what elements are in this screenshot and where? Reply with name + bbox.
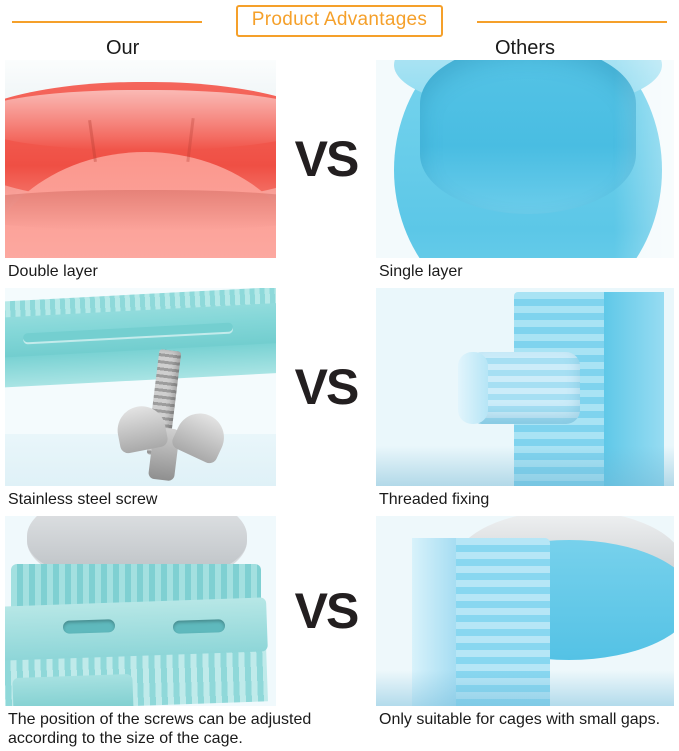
row-2-ours-image (5, 288, 276, 486)
header-banner: Product Advantages (0, 6, 679, 36)
column-header-ours: Our (106, 36, 139, 60)
row-3-others-image (376, 516, 674, 706)
comparison-rows: VS Double layer Single layer (0, 60, 679, 751)
header-rule-right (477, 21, 667, 23)
column-header-others: Others (495, 36, 555, 60)
comparison-row-2: VS Stainless steel screw Threaded fixing (0, 288, 679, 516)
row-1-others-image (376, 60, 674, 258)
comparison-row-3: VS The position of the screws can be adj… (0, 516, 679, 751)
header-title-box: Product Advantages (236, 5, 443, 37)
row-3-others-caption: Only suitable for cages with small gaps. (379, 710, 674, 729)
row-1-others-caption: Single layer (379, 262, 674, 281)
page-title: Product Advantages (252, 9, 427, 31)
row-3-ours-caption: The position of the screws can be adjust… (8, 710, 360, 748)
product-advantages-infographic: Product Advantages Our Others (0, 0, 679, 741)
row-3-ours-image (5, 516, 276, 706)
vs-label-row-1: VS (295, 130, 358, 188)
row-1-ours-image (5, 60, 276, 258)
row-2-others-caption: Threaded fixing (379, 490, 674, 509)
row-2-others-image (376, 288, 674, 486)
row-1-ours-caption: Double layer (8, 262, 98, 281)
header-rule-left (12, 21, 202, 23)
column-headers: Our Others (0, 36, 679, 60)
row-2-ours-caption: Stainless steel screw (8, 490, 157, 509)
vs-label-row-2: VS (295, 358, 358, 416)
comparison-row-1: VS Double layer Single layer (0, 60, 679, 288)
vs-label-row-3: VS (295, 582, 358, 640)
